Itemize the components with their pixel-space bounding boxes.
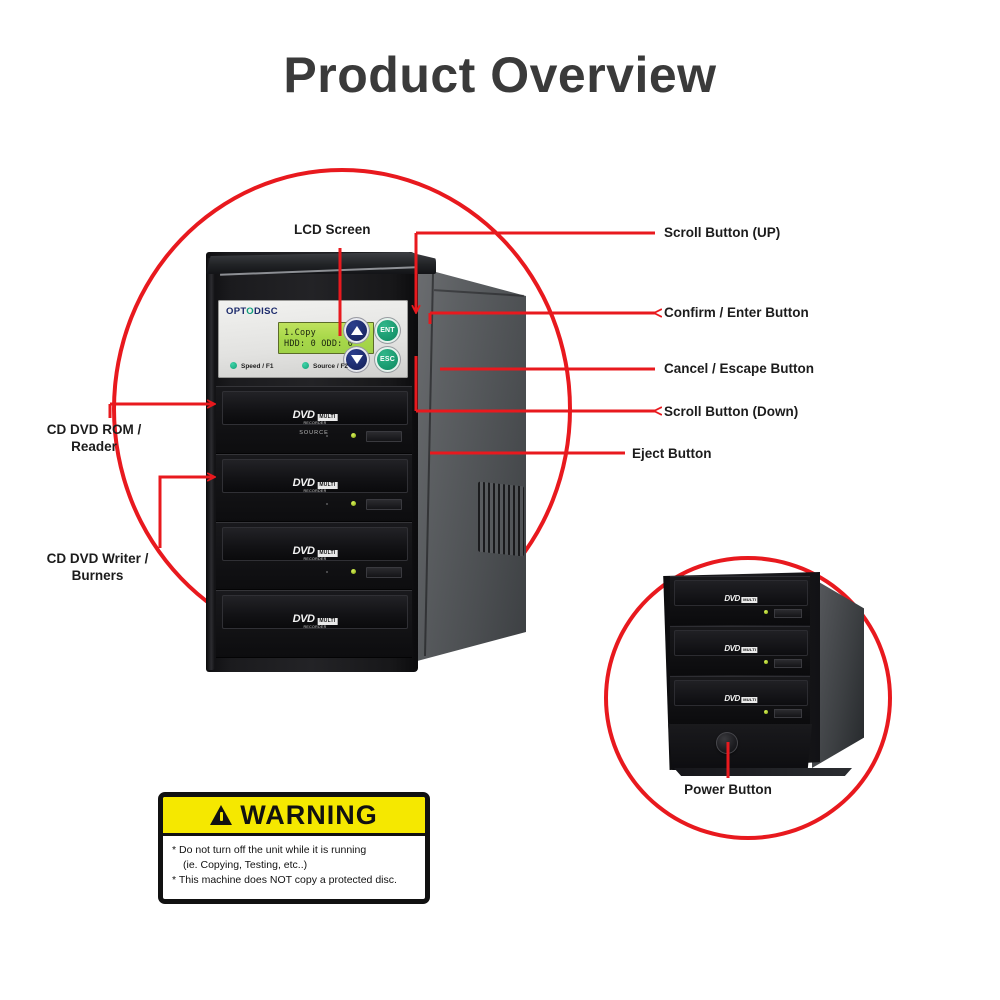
drive-tray[interactable]: DVD MULTI RECORDER bbox=[222, 459, 408, 493]
dvd-sub-label: RECORDER bbox=[304, 625, 327, 629]
eject-button[interactable] bbox=[774, 659, 802, 668]
page-title: Product Overview bbox=[0, 46, 1000, 104]
eject-button[interactable] bbox=[774, 609, 802, 618]
warning-header: WARNING bbox=[163, 797, 425, 836]
inset-drive-tray[interactable]: DVD MULTI bbox=[674, 580, 808, 606]
escape-button[interactable]: ESC bbox=[375, 347, 400, 372]
drive-bay-writer-3[interactable]: DVD MULTI RECORDER bbox=[216, 590, 412, 658]
drive-tray[interactable]: DVD MULTI RECORDER bbox=[222, 391, 408, 425]
dvd-logo: DVD MULTI bbox=[724, 645, 757, 653]
dvd-sub-label: RECORDER bbox=[304, 421, 327, 425]
dvd-logo: DVD MULTI bbox=[724, 695, 757, 703]
emergency-eject-pinhole bbox=[326, 571, 328, 573]
dvd-word: DVD bbox=[293, 410, 315, 421]
drive-bay-writer-2[interactable]: DVD MULTI RECORDER bbox=[216, 522, 412, 590]
drive-activity-led bbox=[351, 433, 356, 438]
dvd-multi-badge: MULTI bbox=[317, 550, 337, 557]
warning-line-3: This machine does NOT copy a protected d… bbox=[172, 873, 417, 888]
drive-activity-led bbox=[764, 710, 768, 714]
drive-activity-led bbox=[764, 660, 768, 664]
callout-lcd-screen: LCD Screen bbox=[294, 222, 371, 239]
tower-left-edge bbox=[206, 258, 215, 670]
optodisc-logo: OPTODISC bbox=[226, 306, 278, 317]
inset-drive-bay-2[interactable]: DVD MULTI bbox=[670, 626, 810, 675]
eject-button[interactable] bbox=[366, 499, 402, 510]
dvd-word: DVD bbox=[724, 645, 739, 653]
drive-activity-led bbox=[351, 569, 356, 574]
dvd-word: DVD bbox=[293, 614, 315, 625]
scroll-up-button[interactable] bbox=[344, 318, 369, 343]
ventilation-grille bbox=[478, 482, 524, 557]
dvd-sub-label: RECORDER bbox=[304, 557, 327, 561]
inset-drive-tray[interactable]: DVD MULTI bbox=[674, 680, 808, 706]
duplicator-tower: OPTODISC 1.Copy1.09 HDD: 0 ODD: 0 ENT ES… bbox=[196, 252, 526, 672]
callout-scroll-up: Scroll Button (UP) bbox=[664, 225, 780, 242]
triangle-down-icon bbox=[351, 355, 363, 364]
dvd-word: DVD bbox=[293, 478, 315, 489]
dvd-multi-badge: MULTI bbox=[742, 597, 758, 603]
inset-tower-base: DVD MULTI DVD MULTI DVD MULTI bbox=[660, 572, 860, 792]
speed-f1-label: Speed / F1 bbox=[241, 363, 274, 370]
product-overview-diagram: Product Overview OPTODISC 1.Copy1.09 HDD… bbox=[0, 0, 1000, 1000]
eject-button[interactable] bbox=[366, 431, 402, 442]
dvd-multi-badge: MULTI bbox=[742, 697, 758, 703]
dvd-logo: DVD MULTI bbox=[293, 478, 338, 489]
callout-eject-button: Eject Button bbox=[632, 446, 712, 463]
warning-body: Do not turn off the unit while it is run… bbox=[163, 836, 425, 888]
warning-line-1: Do not turn off the unit while it is run… bbox=[172, 843, 417, 858]
callout-power-button: Power Button bbox=[648, 782, 808, 799]
dvd-multi-badge: MULTI bbox=[742, 647, 758, 653]
warning-triangle-icon bbox=[210, 805, 232, 825]
dvd-word: DVD bbox=[724, 595, 739, 603]
callout-scroll-down: Scroll Button (Down) bbox=[664, 404, 798, 421]
drive-tray[interactable]: DVD MULTI RECORDER bbox=[222, 527, 408, 561]
logo-part-1: OPT bbox=[226, 306, 246, 317]
dvd-multi-badge: MULTI bbox=[317, 482, 337, 489]
callout-cancel-escape: Cancel / Escape Button bbox=[664, 361, 814, 378]
inset-drive-bay-1[interactable]: DVD MULTI bbox=[670, 576, 810, 625]
speed-led-icon bbox=[230, 362, 237, 369]
emergency-eject-pinhole bbox=[326, 503, 328, 505]
lcd-line1-left: 1.Copy bbox=[284, 328, 316, 338]
inset-base-bezel bbox=[668, 724, 812, 770]
drive-bay-reader[interactable]: DVD MULTI RECORDER SOURCE bbox=[216, 386, 412, 454]
warning-label: WARNING Do not turn off the unit while i… bbox=[158, 792, 430, 904]
drive-activity-led bbox=[351, 501, 356, 506]
enter-button[interactable]: ENT bbox=[375, 318, 400, 343]
callout-writer-burners: CD DVD Writer / Burners bbox=[10, 551, 185, 585]
drive-activity-led bbox=[764, 610, 768, 614]
triangle-up-icon bbox=[351, 326, 363, 335]
callout-confirm-enter: Confirm / Enter Button bbox=[664, 305, 809, 322]
escape-button-label: ESC bbox=[380, 356, 395, 363]
inset-drive-tray[interactable]: DVD MULTI bbox=[674, 630, 808, 656]
dvd-multi-badge: MULTI bbox=[317, 414, 337, 421]
dvd-logo: DVD MULTI bbox=[724, 595, 757, 603]
warning-line-2: (ie. Copying, Testing, etc..) bbox=[172, 858, 417, 873]
source-text: SOURCE bbox=[299, 430, 329, 436]
logo-part-2: O bbox=[246, 306, 254, 317]
drive-tray[interactable]: DVD MULTI RECORDER bbox=[222, 595, 408, 629]
enter-button-label: ENT bbox=[380, 327, 395, 334]
logo-part-3: DISC bbox=[254, 306, 278, 317]
control-panel: OPTODISC 1.Copy1.09 HDD: 0 ODD: 0 ENT ES… bbox=[218, 300, 408, 378]
drive-bay-writer-1[interactable]: DVD MULTI RECORDER bbox=[216, 454, 412, 522]
source-led-icon bbox=[302, 362, 309, 369]
tower-side-panel bbox=[406, 264, 526, 664]
eject-button[interactable] bbox=[774, 709, 802, 718]
dvd-logo: DVD MULTI bbox=[293, 410, 338, 421]
source-f2-label: Source / F2 bbox=[313, 363, 348, 370]
eject-button[interactable] bbox=[366, 567, 402, 578]
warning-heading: WARNING bbox=[240, 802, 378, 829]
dvd-word: DVD bbox=[724, 695, 739, 703]
dvd-logo: DVD MULTI bbox=[293, 546, 338, 557]
dvd-sub-label: RECORDER bbox=[304, 489, 327, 493]
inset-base-foot bbox=[674, 768, 852, 776]
dvd-multi-badge: MULTI bbox=[317, 618, 337, 625]
callout-rom-reader: CD DVD ROM / Reader bbox=[14, 422, 174, 456]
dvd-word: DVD bbox=[293, 546, 315, 557]
power-button[interactable] bbox=[716, 732, 738, 754]
dvd-logo: DVD MULTI bbox=[293, 614, 338, 625]
inset-drive-bay-3[interactable]: DVD MULTI bbox=[670, 676, 810, 725]
emergency-eject-pinhole bbox=[326, 435, 328, 437]
